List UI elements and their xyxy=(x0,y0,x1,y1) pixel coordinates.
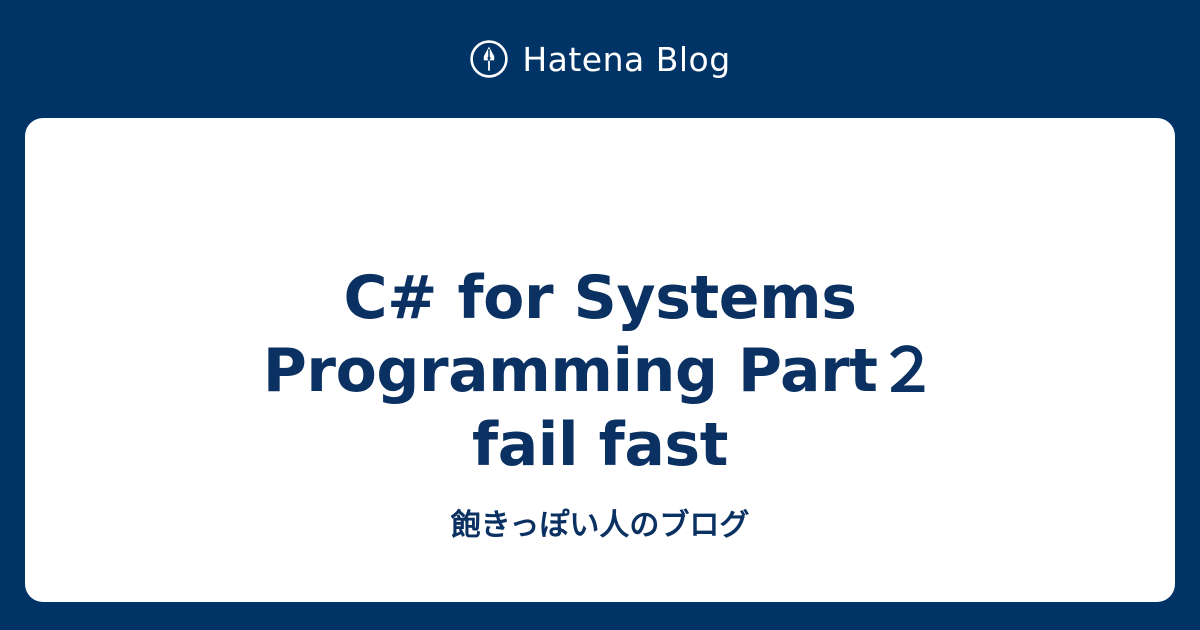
brand-name-label: Hatena Blog xyxy=(522,43,730,76)
entry-card: C# for Systems Programming Part２ fail fa… xyxy=(25,118,1175,602)
entry-title: C# for Systems Programming Part２ fail fa… xyxy=(185,262,1015,482)
og-image-canvas: Hatena Blog C# for Systems Programming P… xyxy=(0,0,1200,630)
blog-name: 飽きっぽい人のブログ xyxy=(25,508,1175,544)
hatena-blog-logo-icon xyxy=(469,39,509,79)
brand-header: Hatena Blog xyxy=(0,0,1200,118)
